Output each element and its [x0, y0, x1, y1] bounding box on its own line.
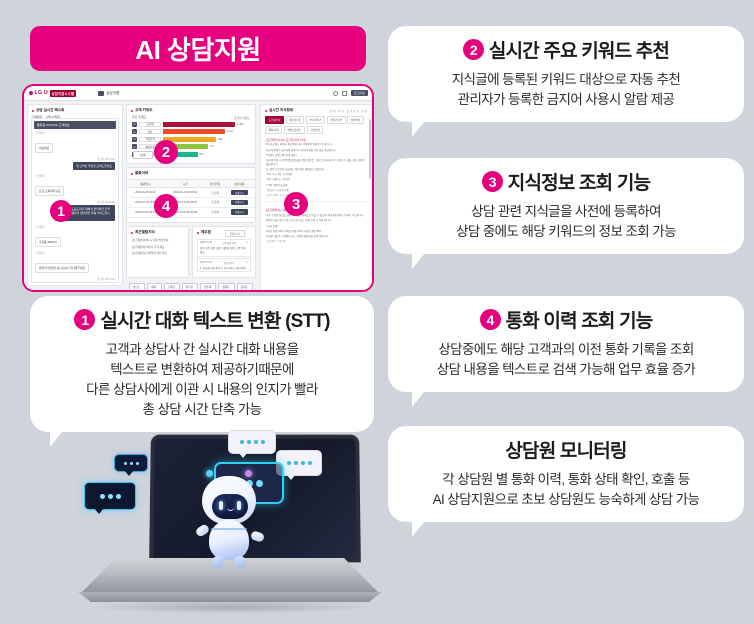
knowledge-article-meta: 조회 967 | 추천 18	[261, 240, 372, 245]
memo-date: 2024-01-15	[200, 241, 212, 245]
hero-illustration	[62, 432, 392, 624]
panel-call-history: 통화이력 통화일시시간상담유형상담내용 2024-01-15 10:222024…	[126, 167, 256, 223]
bottom-tab[interactable]: 상담노트	[129, 283, 145, 292]
dashboard-tab-label: 상담지원	[106, 91, 119, 96]
memo-label: 고객 요청 사항	[222, 241, 237, 245]
ai-robot-character	[190, 470, 268, 570]
panel-memo: 메모함 전체 보기 2024-01-15고객 요청 사항★상담 내용 확인 요망…	[192, 226, 256, 278]
panel-keyword-chart: 고객 키워드 주요 키워드 금지어 키워드 1요금제1,4822할인1,1273…	[126, 104, 256, 164]
chat-message: 네 확인 도와드릴게요	[84, 282, 115, 283]
panel-keyword-title: 고객 키워드	[127, 105, 255, 115]
robot-antenna-right	[245, 470, 252, 477]
keyword-value: 956	[218, 138, 222, 141]
callout-keyword-line-1: 지식글에 등록된 키워드 대상으로 자동 추천	[400, 70, 732, 90]
table-row[interactable]: 2024-01-10 14:082024-01-10 00:05:47요금제상세…	[127, 197, 255, 207]
callout-call-history-title: 4 통화 이력 조회 기능	[400, 306, 732, 333]
knowledge-article-paragraph: 요금제 변경 시 선택약정 할인율과 결합 할인은 그대로 유지되며 부가 서비…	[261, 158, 372, 167]
memo-card-list: 2024-01-15고객 요청 사항★상담 내용 확인 요망 / 재통화 예정 …	[193, 239, 255, 273]
chat-label-customer: 고객발화	[35, 174, 115, 178]
lg-brand-text: LG U	[35, 90, 49, 96]
bottom-tab-row: ‹상담노트해피콜고객정보처리현황접수내역결재요청통계조회›	[126, 281, 256, 292]
view-detail-button[interactable]: 상세보기	[231, 209, 248, 215]
callout-monitoring-line-1: 각 상담원 별 통화 이력, 통화 상태 확인, 호출 등	[400, 470, 732, 490]
panel-history-title: 통화이력	[127, 168, 255, 178]
table-cell-action: 상세보기	[223, 207, 255, 217]
table-body: 2024-01-15 10:222024-01-15 00:03:12요금제상세…	[127, 188, 255, 217]
robot-arm-right	[250, 530, 265, 543]
callout-badge-1: 1	[74, 309, 95, 330]
keyword-rank: 3	[132, 137, 137, 142]
callout-badge-4: 4	[480, 309, 501, 330]
callout-knowledge-line-2: 상담 중에도 해당 키워드의 정보 조회 가능	[400, 222, 732, 242]
robot-eye-right	[237, 501, 241, 510]
callout-monitoring-line-2: AI 상담지원으로 초보 상담원도 능숙하게 상담 가능	[400, 490, 732, 510]
robot-body	[209, 520, 249, 560]
table-column-header: 시간	[164, 180, 207, 188]
robot-leg-left	[212, 556, 224, 568]
panel-bottom-tabs: ‹상담노트해피콜고객정보처리현황접수내역결재요청통계조회›	[126, 281, 256, 291]
panel-recent-title: 최근열람지식	[127, 227, 188, 237]
chat-label-agent: 상담사 00:00:00	[35, 157, 115, 161]
callout-stt-line-1: 고객과 상담사 간 실시간 대화 내용을	[42, 340, 362, 360]
callout-knowledge-heading: 지식정보 조회 기능	[508, 168, 650, 195]
dashboard-screenshot: LG U 상담지원시스템 상담지원 로그아웃 상담 실시간 텍스트	[22, 84, 374, 292]
dashboard-badge-3: 3	[284, 192, 308, 216]
knowledge-chip[interactable]: 요금제안내	[265, 116, 284, 124]
knowledge-article-title[interactable]: [요금제안내] 5G 요금제 변경 안내	[261, 135, 372, 143]
callout-stt-title: 1 실시간 대화 텍스트 변환 (STT)	[42, 306, 362, 333]
keyword-name: 가입문의	[139, 137, 161, 142]
panel-recent-knowledge: 최근열람지식 [요금제안내] 5G 요금제 변경 안내[요금제안내] 데이터 추…	[126, 226, 189, 278]
callout-keyword-line-2: 관리자가 등록한 금지어 사용시 알람 제공	[400, 90, 732, 110]
robot-arm-left	[195, 523, 211, 538]
chat-message: 요금 조회하려구요	[35, 186, 64, 196]
chevron-right-icon[interactable]: ›	[255, 287, 256, 291]
search-icon[interactable]	[333, 91, 338, 96]
chat-label-agent: 상담사 00:00:00	[35, 277, 115, 281]
panel-chat-title: 상담 실시간 텍스트	[28, 105, 122, 115]
callout-keyword-title: 2 실시간 주요 키워드 추천	[400, 36, 732, 63]
keyword-bar-row: 3가입문의956	[132, 136, 250, 142]
callout-stt-heading: 실시간 대화 텍스트 변환 (STT)	[100, 306, 329, 333]
divider	[266, 201, 367, 202]
call-history-table: 통화일시시간상담유형상담내용 2024-01-15 10:222024-01-1…	[127, 179, 255, 218]
memo-filter-select[interactable]: 전체 보기	[225, 230, 245, 237]
chevron-left-icon[interactable]: ‹	[126, 287, 127, 291]
table-column-header: 상담유형	[207, 180, 224, 188]
recent-knowledge-list: [요금제안내] 5G 요금제 변경 안내[요금제안내] 데이터 추가 제공[요금…	[127, 237, 188, 256]
lg-logo: LG U 상담지원시스템	[29, 90, 76, 97]
callout-stt-line-3: 다른 상담사에게 이관 시 내용의 인지가 빨라	[42, 380, 362, 400]
chat-label-customer: 고객발화	[35, 251, 115, 255]
table-cell: 요금제	[207, 197, 224, 207]
table-cell-action: 상세보기	[223, 197, 255, 207]
keyword-bar-row: 1요금제1,482	[132, 121, 250, 127]
table-column-header: 통화일시	[127, 180, 164, 188]
bottom-tab[interactable]: 결재요청	[218, 283, 234, 292]
keyword-bar	[163, 122, 235, 127]
knowledge-scrollbar[interactable]	[369, 119, 371, 179]
knowledge-chip[interactable]: 데이터쿠폰	[286, 116, 305, 124]
list-item[interactable]: [요금제안내] 선택약정 할인 안내	[127, 250, 188, 256]
knowledge-chip[interactable]: 멤버십포인트	[284, 126, 305, 134]
chat-scroll-area[interactable]: 통화중 00:00:00 고객번호 고객발화여보세요상담사 00:00:00네 …	[31, 118, 119, 283]
bottom-tab[interactable]: 통계조회	[237, 283, 253, 292]
page-title-text: AI 상담지원	[135, 30, 260, 67]
table-row[interactable]: 2024-01-04 09:312024-01-04 00:02:55요금제상세…	[127, 207, 255, 217]
lg-brand-chip: 상담지원시스템	[50, 90, 77, 97]
memo-body: 1. 요금제 변경 완료 2. 부가서비스 해지 안내	[200, 266, 248, 270]
callout-stt-line-4: 총 상담 시간 단축 가능	[42, 400, 362, 420]
robot-leg-right	[234, 556, 246, 568]
memo-card[interactable]: 2024-01-11상담 처리★1. 요금제 변경 완료 2. 부가서비스 해지…	[197, 258, 251, 272]
callout-knowledge-line-1: 상담 관련 지식글을 사전에 등록하여	[400, 202, 732, 222]
chat-bubble-icon-4	[228, 430, 276, 454]
bottom-tab[interactable]: 접수내역	[200, 283, 216, 292]
laptop-shadow	[88, 600, 372, 614]
keyword-name: 할인	[139, 129, 161, 134]
knowledge-chip[interactable]: 부가서비스	[306, 116, 325, 124]
callout-stt: 1 실시간 대화 텍스트 변환 (STT) 고객과 상담사 간 실시간 대화 내…	[30, 296, 374, 432]
knowledge-chip[interactable]: 명의변경	[347, 116, 364, 124]
memo-card-header: 2024-01-11상담 처리★	[200, 261, 248, 265]
robot-belt	[211, 528, 247, 530]
chat-label-customer: 고객발화	[35, 225, 115, 229]
dashboard-body: 상담 실시간 텍스트 고객발화 상담사발화 통화중 00:00:00 고객번호 …	[24, 101, 372, 290]
logout-button[interactable]: 로그아웃	[351, 90, 368, 96]
dashboard-tab[interactable]: 상담지원	[98, 91, 119, 96]
dashboard-badge-1: 1	[50, 200, 72, 222]
robot-smile	[227, 507, 234, 511]
knowledge-chip[interactable]: 해지/정지	[265, 126, 282, 134]
infographic-root: AI 상담지원 LG U 상담지원시스템 상담지원 로그아웃	[0, 0, 754, 624]
chat-label-agent: 상담사 00:00:00	[35, 200, 115, 204]
knowledge-article-meta: 조회 1,284 | 추천 24	[261, 193, 372, 198]
bottom-tab[interactable]: 해피콜	[147, 283, 161, 292]
left-panel: AI 상담지원 LG U 상담지원시스템 상담지원 로그아웃	[8, 14, 368, 290]
chat-bubble-icon-1	[84, 482, 136, 510]
robot-antenna-left	[206, 470, 213, 477]
callout-call-history-line-1: 상담중에도 해당 고객과의 이전 통화 기록을 조회	[400, 340, 732, 360]
table-header-row: 통화일시시간상담유형상담내용	[127, 180, 255, 188]
table-cell: 요금제	[207, 188, 224, 198]
callout-tail	[412, 253, 425, 269]
callout-badge-3: 3	[482, 171, 503, 192]
callout-call-history: 4 통화 이력 조회 기능 상담중에도 해당 고객과의 이전 통화 기록을 조회…	[388, 296, 744, 392]
keyword-bar-row: 2할인1,127	[132, 129, 250, 135]
callout-knowledge: 3 지식정보 조회 기능 상담 관련 지식글을 사전에 등록하여 상담 중에도 …	[388, 158, 744, 254]
knowledge-article-title[interactable]: [요금제안내] 가족 결합 할인 안내	[261, 205, 372, 213]
chat-session-header: 통화중 00:00:00 고객번호	[34, 121, 116, 129]
keyword-rank: 2	[132, 129, 137, 134]
page-title: AI 상담지원	[30, 26, 366, 71]
robot-eye-left	[219, 501, 223, 510]
callout-call-history-line-2: 상담 내용을 텍스트로 검색 가능해 업무 효율 증가	[400, 360, 732, 380]
knowledge-chip[interactable]: 로밍안내	[307, 126, 324, 134]
knowledge-chip-list: 요금제안내데이터쿠폰부가서비스단말기할부명의변경해지/정지멤버십포인트로밍안내	[261, 115, 372, 135]
memo-label: 상담 처리	[224, 261, 233, 265]
tab-icon	[98, 91, 104, 96]
chat-message-list: 고객발화여보세요상담사 00:00:00네 고객님 무엇을 도와드릴까요고객발화…	[32, 131, 118, 283]
callout-tail	[412, 391, 425, 407]
table-cell-action: 상세보기	[223, 188, 255, 198]
keyword-bar-row: 4해지신청713	[132, 144, 250, 150]
knowledge-chip[interactable]: 단말기할부	[327, 116, 346, 124]
callout-monitoring: 상담원 모니터링 각 상담원 별 통화 이력, 통화 상태 확인, 호출 등 A…	[388, 426, 744, 522]
keyword-name: 요금제	[139, 122, 161, 127]
topbar-actions: 로그아웃	[333, 90, 368, 96]
callout-tail	[412, 121, 425, 137]
view-detail-button[interactable]: 상세보기	[231, 200, 248, 206]
memo-body: 상담 내용 확인 요망 / 재통화 예정 고객 안내 필요	[200, 246, 248, 254]
chat-message: 네 고객님 무엇을 도와드릴까요	[73, 162, 115, 170]
keyword-rank: 1	[132, 122, 137, 127]
lg-dot-icon	[29, 91, 33, 95]
table-column-header: 상담내용	[223, 180, 255, 188]
callout-stt-line-2: 텍스트로 변환하여 제공하기때문에	[42, 360, 362, 380]
keyword-value: 713	[210, 145, 214, 148]
callout-knowledge-title: 3 지식정보 조회 기능	[400, 168, 732, 195]
memo-date: 2024-01-11	[200, 261, 212, 265]
panel-realtime-chat: 상담 실시간 텍스트 고객발화 상담사발화 통화중 00:00:00 고객번호 …	[27, 104, 123, 286]
star-icon[interactable]: ★	[246, 261, 248, 265]
dashboard-badge-4: 4	[154, 194, 178, 218]
panel-knowledge-info: 실시간 지식정보 인쇄 복사 즐겨찾기 공유 요금제안내데이터쿠폰부가서비스단말…	[260, 104, 373, 291]
callout-tail	[412, 521, 425, 537]
chat-message: 확인이 되었습니다 잠시만 기다려주세요	[35, 263, 89, 273]
memo-card-header: 2024-01-15고객 요청 사항★	[200, 241, 248, 245]
memo-card[interactable]: 2024-01-15고객 요청 사항★상담 내용 확인 요망 / 재통화 예정 …	[197, 239, 251, 257]
bottom-tab[interactable]: 고객정보	[164, 283, 180, 292]
callout-badge-2: 2	[463, 39, 484, 60]
callout-keyword-heading: 실시간 주요 키워드 추천	[489, 36, 669, 63]
knowledge-article-list: [요금제안내] 5G 요금제 변경 안내5G 요금제는 데이터 제공량에 따라 …	[261, 135, 372, 245]
chat-message: 여보세요	[35, 143, 53, 153]
keyword-bar	[163, 129, 225, 134]
keyword-rank: 4	[132, 144, 137, 149]
callout-monitoring-heading: 상담원 모니터링	[505, 436, 626, 463]
keyword-value: 1,127	[227, 130, 234, 133]
keyword-value: 1,482	[237, 123, 244, 126]
chat-bubble-icon-2	[114, 454, 148, 472]
grid-icon[interactable]	[342, 91, 347, 96]
keyword-value: 527	[200, 153, 204, 156]
knowledge-tools[interactable]: 인쇄 복사 즐겨찾기 공유	[330, 109, 368, 113]
dashboard-topbar: LG U 상담지원시스템 상담지원 로그아웃	[24, 86, 372, 101]
table-row[interactable]: 2024-01-15 10:222024-01-15 00:03:12요금제상세…	[127, 188, 255, 198]
table-cell: 요금제	[207, 207, 224, 217]
callout-monitoring-title: 상담원 모니터링	[400, 436, 732, 463]
bottom-tab[interactable]: 처리현황	[182, 283, 198, 292]
callout-keyword: 2 실시간 주요 키워드 추천 지식글에 등록된 키워드 대상으로 자동 추천 …	[388, 26, 744, 122]
keyword-forbidden-label: 금지어 키워드	[234, 116, 250, 120]
star-icon[interactable]: ★	[246, 241, 248, 245]
chat-label-customer: 고객발화	[35, 131, 115, 135]
callout-call-history-heading: 통화 이력 조회 기능	[506, 306, 653, 333]
keyword-detail-button[interactable]: 상세	[133, 151, 153, 159]
dashboard-badge-2: 2	[154, 140, 178, 164]
robot-face	[212, 494, 248, 519]
view-detail-button[interactable]: 상세보기	[231, 190, 248, 196]
chat-message: 홍길동 900101	[35, 237, 61, 247]
